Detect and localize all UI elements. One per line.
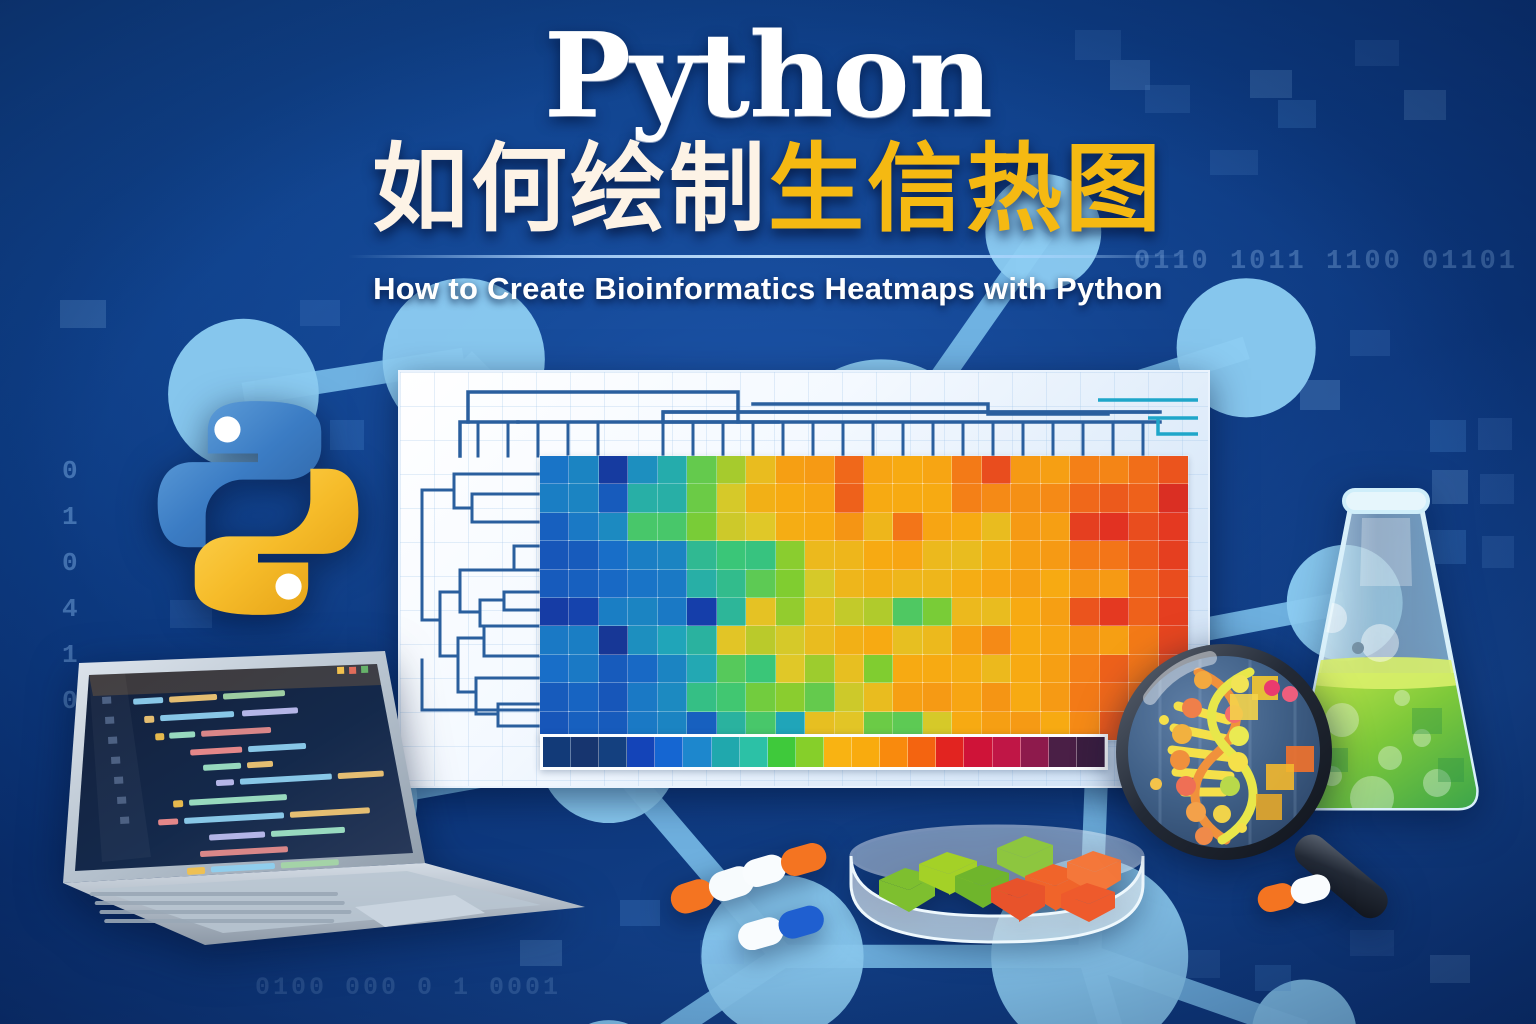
heatmap-cell: [569, 598, 598, 626]
column-dendrogram: [408, 382, 1208, 460]
heatmap-cell: [1129, 513, 1158, 541]
heatmap-cell: [776, 598, 805, 626]
colorbar-step: [936, 737, 964, 767]
heatmap-cell: [687, 683, 716, 711]
heatmap-cell: [1100, 598, 1129, 626]
heatmap-cell: [569, 513, 598, 541]
heatmap-cell: [599, 655, 628, 683]
heatmap-cell: [1159, 541, 1188, 569]
heatmap-cell: [923, 655, 952, 683]
heatmap-cell: [687, 655, 716, 683]
heatmap-cell: [1011, 484, 1040, 512]
colorbar-step: [740, 737, 768, 767]
heatmap-cell: [952, 541, 981, 569]
heatmap-cell: [982, 598, 1011, 626]
heatmap-cell: [569, 541, 598, 569]
heatmap-cell: [805, 683, 834, 711]
heatmap-cell: [835, 598, 864, 626]
heatmap-cell: [687, 541, 716, 569]
heatmap-cell: [1011, 456, 1040, 484]
heatmap-cell: [1070, 683, 1099, 711]
heatmap-cell: [864, 626, 893, 654]
heatmap-cell: [540, 456, 569, 484]
heatmap-cell: [717, 484, 746, 512]
heatmap-cell: [893, 513, 922, 541]
heatmap-cell: [923, 456, 952, 484]
heatmap-cell: [658, 570, 687, 598]
heatmap-cell: [952, 626, 981, 654]
heatmap-cell: [952, 570, 981, 598]
heatmap-cell: [628, 513, 657, 541]
heatmap-cell: [1159, 513, 1188, 541]
heatmap-cell: [893, 598, 922, 626]
heatmap-cell: [599, 598, 628, 626]
heatmap-cell: [805, 456, 834, 484]
heatmap-cell: [982, 655, 1011, 683]
heatmap-cell: [893, 456, 922, 484]
heatmap-cell: [658, 541, 687, 569]
heatmap-cell: [599, 541, 628, 569]
capsule-pill-icon: [1255, 868, 1335, 918]
python-logo-icon: [118, 388, 398, 628]
heatmap-cell: [835, 683, 864, 711]
heatmap-cell: [893, 570, 922, 598]
heatmap-cell: [923, 570, 952, 598]
heatmap-cell: [599, 683, 628, 711]
heatmap-cell: [776, 541, 805, 569]
heatmap-cell: [746, 570, 775, 598]
heatmap-cell: [805, 655, 834, 683]
heatmap-cell: [628, 484, 657, 512]
heatmap-cell: [952, 484, 981, 512]
heatmap-cell: [628, 598, 657, 626]
heatmap-cell: [1159, 570, 1188, 598]
heatmap-cell: [1070, 541, 1099, 569]
heatmap-cell: [746, 541, 775, 569]
heatmap-cell: [658, 513, 687, 541]
heatmap-cell: [717, 456, 746, 484]
heatmap-cell: [805, 598, 834, 626]
heatmap-cell: [717, 626, 746, 654]
heatmap-cell: [1041, 484, 1070, 512]
heatmap-cell: [952, 513, 981, 541]
colorbar-step: [768, 737, 796, 767]
heatmap-cell: [569, 456, 598, 484]
colorbar-step: [599, 737, 627, 767]
heatmap-cell: [540, 513, 569, 541]
heatmap-cell: [1100, 484, 1129, 512]
heatmap-cell: [1159, 484, 1188, 512]
heatmap-cell: [776, 655, 805, 683]
heatmap-cell: [893, 626, 922, 654]
heatmap-cell: [658, 456, 687, 484]
heatmap-cell: [835, 513, 864, 541]
heatmap-cell: [658, 683, 687, 711]
heatmap-cell: [805, 513, 834, 541]
heatmap-cell: [599, 484, 628, 512]
heatmap-cell: [835, 655, 864, 683]
heatmap-cell: [687, 456, 716, 484]
heatmap-cell: [923, 541, 952, 569]
heatmap-cell: [1129, 484, 1158, 512]
colorbar-step: [655, 737, 683, 767]
heatmap-cell: [776, 683, 805, 711]
heatmap-cell: [982, 683, 1011, 711]
colorbar-step: [908, 737, 936, 767]
heatmap-cell: [1129, 570, 1158, 598]
heatmap-cell: [687, 484, 716, 512]
colorbar-step: [712, 737, 740, 767]
heatmap-cell: [776, 456, 805, 484]
heatmap-cell: [982, 484, 1011, 512]
heatmap-cell: [1070, 456, 1099, 484]
laptop-code-icon[interactable]: [55, 645, 595, 955]
heatmap-cell: [658, 626, 687, 654]
heatmap-cell: [1041, 626, 1070, 654]
colorbar-step: [964, 737, 992, 767]
heatmap-cell: [864, 655, 893, 683]
heatmap-cell: [628, 570, 657, 598]
heatmap-cell: [1041, 456, 1070, 484]
heatmap-cell: [1070, 484, 1099, 512]
heatmap-cell: [864, 456, 893, 484]
heatmap-cell: [540, 484, 569, 512]
heatmap-cell: [687, 626, 716, 654]
heatmap-cell: [1011, 655, 1040, 683]
heatmap-cell: [1070, 655, 1099, 683]
heatmap-cell: [805, 570, 834, 598]
heatmap-cell: [982, 626, 1011, 654]
heatmap-cell: [746, 456, 775, 484]
heatmap-cell: [1129, 598, 1158, 626]
heatmap-cell: [835, 570, 864, 598]
heatmap-cell: [628, 683, 657, 711]
heatmap-cell: [540, 570, 569, 598]
heatmap-cell: [599, 570, 628, 598]
heatmap-cell: [893, 484, 922, 512]
heatmap-cell: [746, 598, 775, 626]
heatmap-cell: [599, 456, 628, 484]
heatmap-cell: [1011, 598, 1040, 626]
heatmap-cell: [864, 541, 893, 569]
heatmap-cell: [599, 626, 628, 654]
heatmap-cell: [746, 655, 775, 683]
heatmap-cell: [540, 598, 569, 626]
heatmap-cell: [893, 655, 922, 683]
colorbar-step: [796, 737, 824, 767]
heatmap-cell: [864, 570, 893, 598]
heatmap-cell: [776, 626, 805, 654]
heatmap-grid[interactable]: [540, 456, 1188, 740]
heatmap-cell: [746, 484, 775, 512]
heatmap-cell: [1041, 655, 1070, 683]
heatmap-cell: [717, 541, 746, 569]
heatmap-cell: [805, 484, 834, 512]
heatmap-cell: [952, 598, 981, 626]
heatmap-cell: [835, 484, 864, 512]
heatmap-cell: [923, 598, 952, 626]
heatmap-cell: [687, 570, 716, 598]
heatmap-cell: [923, 484, 952, 512]
heatmap-cell: [658, 655, 687, 683]
heatmap-cell: [835, 626, 864, 654]
heatmap-cell: [1011, 683, 1040, 711]
heatmap-cell: [982, 570, 1011, 598]
chinese-title-white: 如何绘制: [372, 136, 768, 243]
capsule-pill-icon: [665, 840, 860, 950]
heatmap-cell: [864, 484, 893, 512]
heatmap-cell: [628, 655, 657, 683]
heatmap-cell: [717, 655, 746, 683]
heatmap-cell: [776, 513, 805, 541]
heatmap-cell: [746, 683, 775, 711]
heatmap-cell: [717, 683, 746, 711]
title-block: Python 如何绘制生信热图 How to Create Bioinforma…: [0, 18, 1536, 307]
colorbar-step: [880, 737, 908, 767]
heatmap-cell: [1011, 513, 1040, 541]
english-subtitle: How to Create Bioinformatics Heatmaps wi…: [0, 271, 1536, 307]
chinese-title-gold: 生信热图: [768, 136, 1164, 243]
heatmap-cell: [599, 513, 628, 541]
heatmap-cell: [952, 683, 981, 711]
heatmap-cell: [1011, 541, 1040, 569]
heatmap-cell: [628, 456, 657, 484]
heatmap-cell: [746, 626, 775, 654]
heatmap-cell: [805, 541, 834, 569]
heatmap-cell: [1129, 456, 1158, 484]
heatmap-cell: [1041, 683, 1070, 711]
title-divider: [348, 255, 1188, 258]
heatmap-cell: [1070, 598, 1099, 626]
heatmap-cell: [1159, 598, 1188, 626]
chinese-title: 如何绘制生信热图: [0, 140, 1536, 241]
heatmap-cell: [893, 683, 922, 711]
heatmap-cell: [1041, 598, 1070, 626]
heatmap-cell: [1100, 541, 1129, 569]
heatmap-cell: [952, 655, 981, 683]
colorbar-step: [993, 737, 1021, 767]
heatmap-cell: [717, 598, 746, 626]
colorbar-step: [824, 737, 852, 767]
heatmap-cell: [569, 570, 598, 598]
heatmap-cell: [1100, 456, 1129, 484]
heatmap-cell: [569, 484, 598, 512]
heatmap-cell: [835, 456, 864, 484]
page-title: Python: [0, 18, 1536, 134]
heatmap-cell: [982, 541, 1011, 569]
heatmap-cell: [1011, 570, 1040, 598]
heatmap-cell: [628, 541, 657, 569]
heatmap-cell: [835, 541, 864, 569]
colorbar-step: [683, 737, 711, 767]
heatmap-cell: [776, 484, 805, 512]
heatmap-cell: [687, 598, 716, 626]
heatmap-cell: [1041, 541, 1070, 569]
heatmap-cell: [864, 598, 893, 626]
heatmap-cell: [1159, 456, 1188, 484]
colorbar-step: [627, 737, 655, 767]
heatmap-cell: [746, 513, 775, 541]
heatmap-cell: [1011, 626, 1040, 654]
heatmap-cell: [776, 570, 805, 598]
heatmap-cell: [1100, 570, 1129, 598]
heatmap-cell: [982, 513, 1011, 541]
heatmap-cell: [1070, 513, 1099, 541]
heatmap-cell: [628, 626, 657, 654]
heatmap-cell: [658, 598, 687, 626]
heatmap-cell: [717, 570, 746, 598]
heatmap-cell: [864, 513, 893, 541]
heatmap-cell: [864, 683, 893, 711]
heatmap-cell: [1100, 513, 1129, 541]
heatmap-cell: [717, 513, 746, 541]
heatmap-cell: [1041, 570, 1070, 598]
heatmap-cell: [1070, 570, 1099, 598]
colorbar-legend[interactable]: [540, 734, 1108, 770]
heatmap-cell: [658, 484, 687, 512]
heatmap-cell: [982, 456, 1011, 484]
heatmap-cell: [923, 626, 952, 654]
colorbar-step: [1049, 737, 1077, 767]
heatmap-cell: [1129, 541, 1158, 569]
heatmap-cell: [952, 456, 981, 484]
colorbar-step: [1021, 737, 1049, 767]
heatmap-cell: [805, 626, 834, 654]
heatmap-cell: [893, 541, 922, 569]
heatmap-cell: [923, 683, 952, 711]
heatmap-cell: [540, 541, 569, 569]
heatmap-cell: [1041, 513, 1070, 541]
heatmap-cell: [1070, 626, 1099, 654]
colorbar-step: [852, 737, 880, 767]
heatmap-cell: [923, 513, 952, 541]
heatmap-cell: [687, 513, 716, 541]
